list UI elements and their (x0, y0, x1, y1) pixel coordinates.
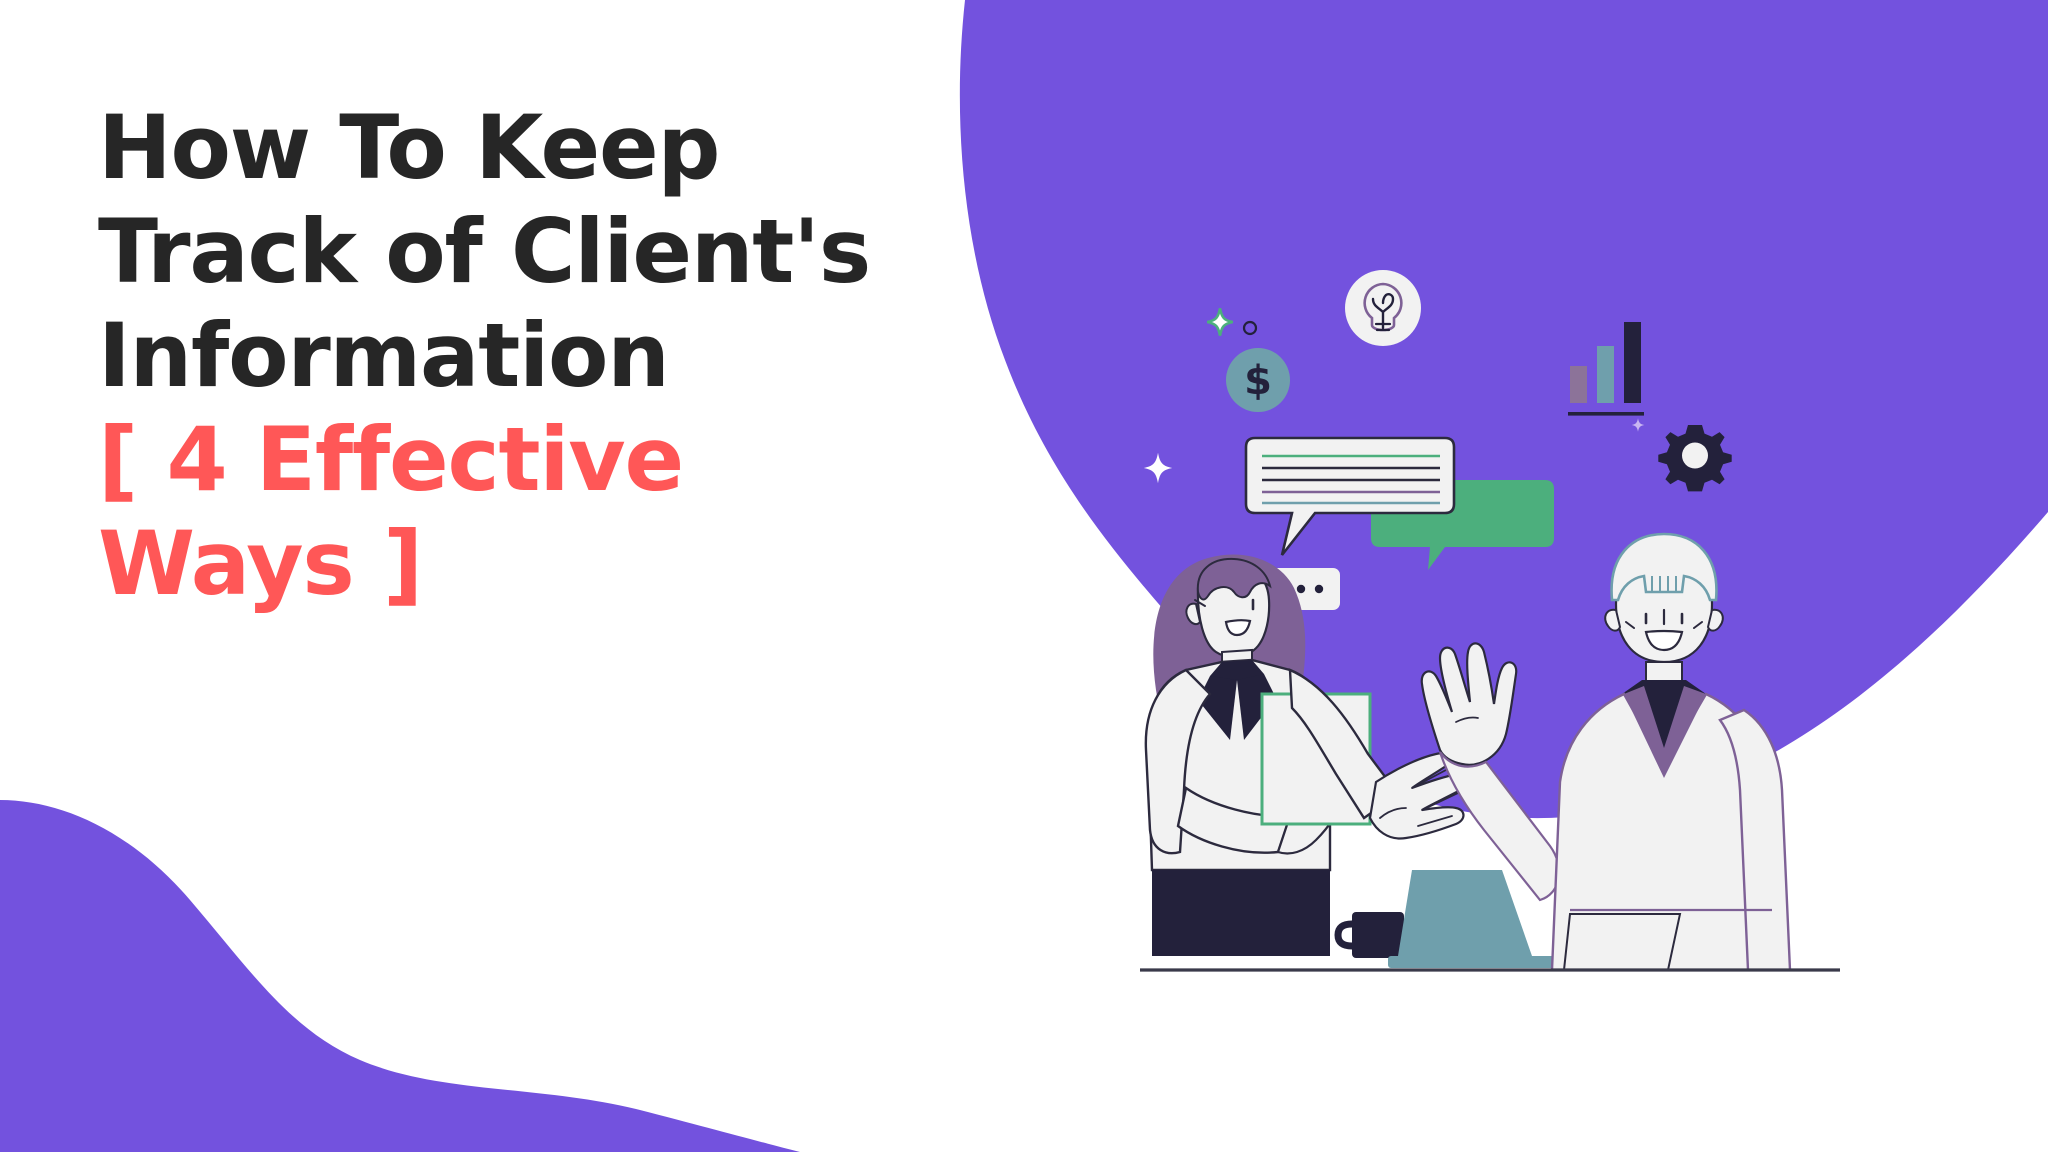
headline-line-1: How To Keep (98, 96, 1108, 200)
sparkle-icon-white (1144, 453, 1173, 483)
two-people-discussing-illustration: $ (1140, 270, 1880, 1000)
circle-outline-icon (1244, 322, 1256, 334)
headline-line-3: Information (98, 304, 1108, 408)
headline-accent-line-1: [ 4 Effective (98, 408, 1108, 512)
headline-accent-line-2: Ways ] (98, 512, 1108, 616)
dollar-coin-icon: $ (1226, 348, 1290, 412)
purple-shape-bottom-left (0, 800, 800, 1152)
blog-banner: How To Keep Track of Client's Informatio… (0, 0, 2048, 1152)
coffee-mug-icon (1338, 912, 1404, 958)
page-title: How To Keep Track of Client's Informatio… (98, 96, 1108, 616)
lightbulb-icon (1345, 270, 1421, 346)
headline-line-2: Track of Client's (98, 200, 1108, 304)
bar-chart-icon (1568, 322, 1644, 416)
svg-text:$: $ (1244, 358, 1272, 404)
gear-icon (1658, 425, 1731, 491)
sparkle-icon-green (1207, 308, 1233, 335)
sparkle-icon-small (1632, 418, 1645, 431)
